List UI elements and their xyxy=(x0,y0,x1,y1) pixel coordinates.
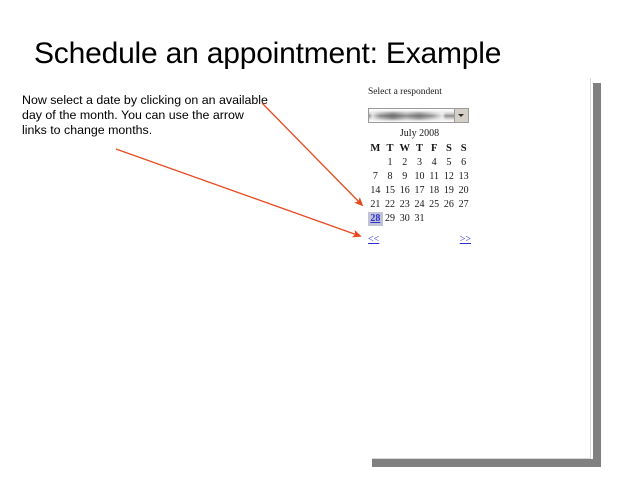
arrow-to-month-nav xyxy=(116,149,360,236)
calendar-grid: M T W T F S S 1 2 3 4 5 6 7 8 9 xyxy=(368,142,471,226)
calendar-weekday-header: S xyxy=(442,142,457,156)
calendar-day-cell[interactable]: 31 xyxy=(412,212,427,226)
calendar-day-cell[interactable]: 24 xyxy=(412,198,427,212)
calendar-day-cell[interactable]: 15 xyxy=(383,184,398,198)
calendar-week-row: 14 15 16 17 18 19 20 xyxy=(368,184,471,198)
calendar-day-cell[interactable]: 1 xyxy=(383,156,398,170)
calendar-day-cell xyxy=(427,212,442,226)
calendar-day-cell[interactable]: 13 xyxy=(456,170,471,184)
instruction-callout-text: Now select a date by clicking on an avai… xyxy=(22,93,272,139)
calendar-day-cell[interactable]: 9 xyxy=(397,170,412,184)
calendar-day-cell[interactable]: 4 xyxy=(427,156,442,170)
calendar-day-cell[interactable]: 6 xyxy=(456,156,471,170)
calendar-day-cell[interactable]: 12 xyxy=(442,170,457,184)
screenshot-shadow-right xyxy=(593,83,601,459)
screenshot-shadow-bottom xyxy=(372,459,601,467)
calendar-day-cell-selected[interactable]: 28 xyxy=(368,212,383,226)
calendar-day-cell[interactable]: 8 xyxy=(383,170,398,184)
calendar-nav-links: << >> xyxy=(368,234,471,245)
prev-month-link[interactable]: << xyxy=(368,234,379,245)
calendar-day-cell[interactable]: 30 xyxy=(397,212,412,226)
calendar-selected-day-link[interactable]: 28 xyxy=(370,213,380,224)
calendar-weekday-header: T xyxy=(383,142,398,156)
calendar-day-cell[interactable]: 16 xyxy=(397,184,412,198)
calendar-day-cell[interactable]: 11 xyxy=(427,170,442,184)
calendar-day-cell[interactable]: 7 xyxy=(368,170,383,184)
calendar-week-row: 7 8 9 10 11 12 13 xyxy=(368,170,471,184)
calendar-day-cell[interactable]: 14 xyxy=(368,184,383,198)
calendar-weekday-header: W xyxy=(397,142,412,156)
calendar-weekday-header-row: M T W T F S S xyxy=(368,142,471,156)
respondent-field-label: Select a respondent xyxy=(368,87,442,97)
calendar-day-cell[interactable]: 25 xyxy=(427,198,442,212)
calendar-day-cell[interactable]: 2 xyxy=(397,156,412,170)
calendar-day-cell[interactable]: 5 xyxy=(442,156,457,170)
calendar-day-cell[interactable]: 21 xyxy=(368,198,383,212)
calendar-day-cell[interactable]: 23 xyxy=(397,198,412,212)
respondent-select[interactable] xyxy=(368,108,469,123)
calendar-day-cell[interactable]: 22 xyxy=(383,198,398,212)
calendar-day-cell[interactable]: 18 xyxy=(427,184,442,198)
calendar-month-year: July 2008 xyxy=(368,128,471,139)
next-month-link[interactable]: >> xyxy=(460,234,471,245)
screenshot-frame-right-edge xyxy=(590,78,591,459)
calendar-day-cell[interactable]: 3 xyxy=(412,156,427,170)
chevron-down-icon[interactable] xyxy=(454,109,468,122)
annotation-arrows xyxy=(0,0,640,480)
calendar-day-cell xyxy=(456,212,471,226)
calendar-day-cell[interactable]: 27 xyxy=(456,198,471,212)
calendar-week-row: 28 29 30 31 xyxy=(368,212,471,226)
calendar-day-cell[interactable]: 19 xyxy=(442,184,457,198)
arrow-to-selected-day xyxy=(262,103,362,205)
calendar-weekday-header: T xyxy=(412,142,427,156)
respondent-selected-value xyxy=(369,109,454,122)
calendar-week-row: 21 22 23 24 25 26 27 xyxy=(368,198,471,212)
calendar-weekday-header: F xyxy=(427,142,442,156)
calendar-day-cell[interactable]: 20 xyxy=(456,184,471,198)
calendar-day-cell[interactable]: 10 xyxy=(412,170,427,184)
slide-canvas: Schedule an appointment: Example Now sel… xyxy=(0,0,640,480)
calendar-week-row: 1 2 3 4 5 6 xyxy=(368,156,471,170)
calendar-weekday-header: M xyxy=(368,142,383,156)
calendar-weekday-header: S xyxy=(456,142,471,156)
calendar-day-cell[interactable]: 26 xyxy=(442,198,457,212)
calendar-day-cell xyxy=(442,212,457,226)
calendar-day-cell xyxy=(368,156,383,170)
page-title: Schedule an appointment: Example xyxy=(34,38,614,70)
calendar-day-cell[interactable]: 29 xyxy=(383,212,398,226)
calendar-day-cell[interactable]: 17 xyxy=(412,184,427,198)
